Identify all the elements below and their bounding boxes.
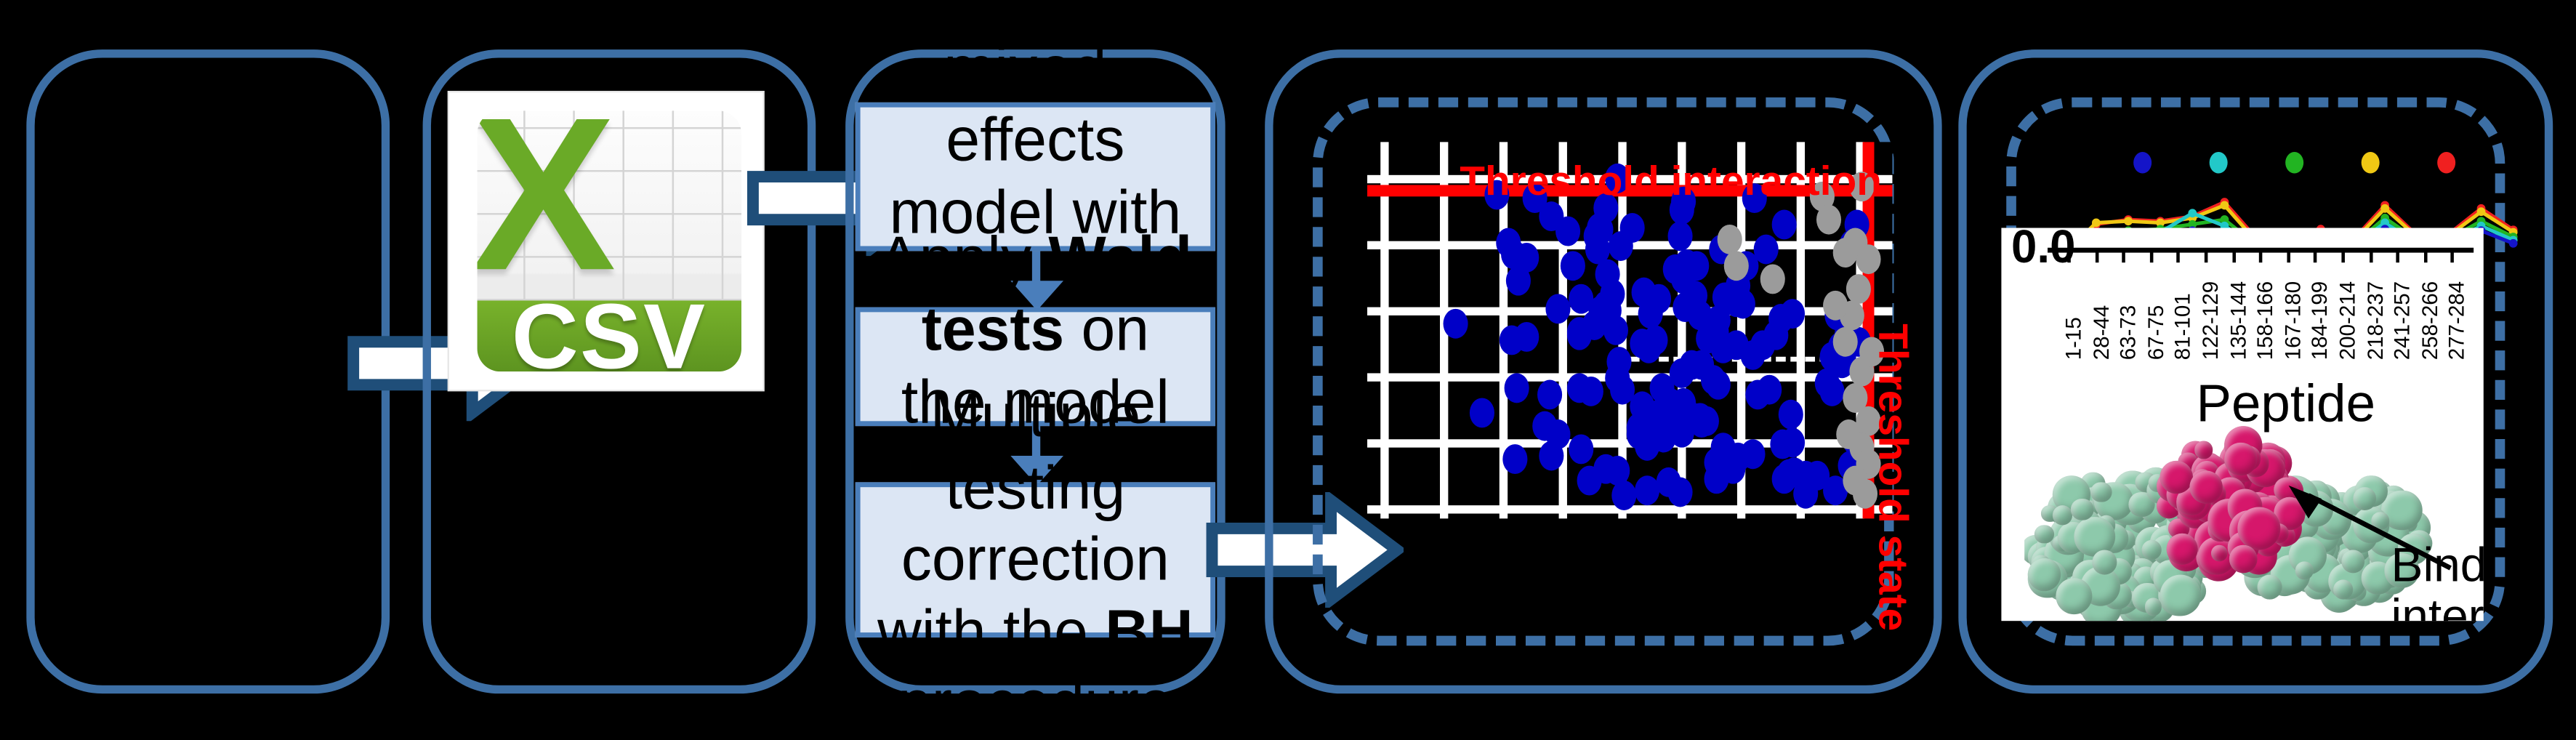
threshold-interaction-label: Threshold interaction bbox=[1460, 158, 1882, 206]
protein-surface-blob bbox=[2072, 499, 2093, 521]
peptide-tick-mark bbox=[2396, 251, 2400, 262]
peptide-series-marker bbox=[2221, 201, 2229, 210]
protein-epitope-blob bbox=[2159, 460, 2193, 494]
step-bh-box: Multiple testing correction with the BH … bbox=[856, 482, 1215, 638]
csv-band: CSV bbox=[478, 301, 741, 371]
data-point-nonsignificant bbox=[1846, 274, 1871, 304]
peptide-legend-dot bbox=[2133, 152, 2152, 174]
protein-surface-blob bbox=[2053, 505, 2072, 525]
data-point-nonsignificant bbox=[1833, 238, 1858, 268]
protein-epitope-blob bbox=[2195, 441, 2213, 459]
grid-line-vertical bbox=[1380, 142, 1388, 518]
workflow-diagram: X CSV Fit a linear mixed-effects model w… bbox=[0, 0, 2576, 687]
peptide-tick-mark bbox=[2232, 251, 2236, 262]
data-point-significant bbox=[1651, 422, 1675, 452]
peptide-legend-dot bbox=[2437, 152, 2455, 174]
protein-epitope-blob bbox=[2189, 470, 2223, 504]
peptide-legend-dot bbox=[2210, 152, 2228, 174]
peptide-tick-label: 135-144 bbox=[2225, 281, 2250, 360]
data-point-significant bbox=[1675, 249, 1699, 279]
data-point-significant bbox=[1740, 340, 1765, 370]
peptide-tick-label: 184-199 bbox=[2308, 281, 2333, 360]
protein-surface-blob bbox=[2027, 558, 2061, 591]
csv-icon-body: X CSV bbox=[478, 110, 741, 372]
data-point-significant bbox=[1778, 399, 1803, 429]
data-point-significant bbox=[1634, 476, 1659, 506]
peptide-tick-label: 122-129 bbox=[2198, 281, 2223, 360]
peptide-tick-label: 277-284 bbox=[2444, 281, 2469, 360]
peptide-tick-mark bbox=[2341, 251, 2345, 262]
binding-interface-label: Binding interface bbox=[2391, 542, 2484, 621]
data-point-significant bbox=[1726, 442, 1750, 472]
peptide-tick-mark bbox=[2287, 251, 2290, 262]
threshold-state-label: Threshold state bbox=[1867, 323, 1915, 631]
binding-label-line2: interface bbox=[2391, 593, 2484, 621]
data-point-nonsignificant bbox=[1823, 291, 1848, 321]
data-point-significant bbox=[1546, 294, 1571, 323]
peptide-tick-label: 241-257 bbox=[2390, 281, 2415, 360]
peptide-tick-label: 218-237 bbox=[2362, 281, 2387, 360]
data-point-nonsignificant bbox=[1833, 327, 1858, 357]
peptide-tick-mark bbox=[2067, 251, 2071, 262]
protein-surface-blob bbox=[2034, 524, 2053, 544]
data-point-significant bbox=[1567, 320, 1592, 350]
peptide-tick-mark bbox=[2095, 251, 2098, 262]
data-point-significant bbox=[1779, 299, 1804, 329]
peptide-tick-label: 200-214 bbox=[2335, 281, 2359, 360]
protein-epitope-blob bbox=[2237, 507, 2280, 550]
peptide-series-marker bbox=[2092, 219, 2101, 228]
protein-surface-blob bbox=[2145, 598, 2162, 616]
peptide-tick-label: 167-180 bbox=[2280, 281, 2305, 360]
csv-file-icon: X CSV bbox=[449, 92, 763, 390]
peptide-tick-mark bbox=[2205, 251, 2208, 262]
peptide-tick-mark bbox=[2259, 251, 2263, 262]
data-point-significant bbox=[1502, 444, 1527, 474]
data-point-significant bbox=[1746, 379, 1771, 409]
peptide-tick-label: 28-44 bbox=[2088, 305, 2113, 361]
peptide-tick-label: 158-166 bbox=[2253, 281, 2277, 360]
peptide-tick-label: 63-73 bbox=[2116, 305, 2141, 361]
peptide-tick-mark bbox=[2451, 251, 2455, 262]
data-point-significant bbox=[1569, 434, 1593, 464]
data-point-nonsignificant bbox=[1724, 251, 1749, 281]
csv-format-label: CSV bbox=[512, 283, 707, 371]
input-panel bbox=[26, 49, 390, 693]
peptide-tick-label: 1-15 bbox=[2061, 317, 2085, 360]
data-point-significant bbox=[1705, 370, 1730, 400]
peptide-series-marker bbox=[2509, 239, 2518, 248]
peptide-tick-mark bbox=[2424, 251, 2428, 262]
data-point-significant bbox=[1771, 209, 1796, 239]
peptide-tick-label: 67-75 bbox=[2143, 305, 2168, 361]
excel-x-letter: X bbox=[483, 121, 604, 267]
peptide-series-marker bbox=[2188, 209, 2197, 217]
data-point-significant bbox=[1631, 278, 1656, 307]
data-point-significant bbox=[1610, 374, 1635, 404]
peptide-legend-dot bbox=[2285, 152, 2303, 174]
peptide-legend-dot bbox=[2362, 152, 2380, 174]
peptide-tick-mark bbox=[2149, 251, 2153, 262]
peptide-figure-card: 0.0 1-1528-4463-7367-7581-101122-129135-… bbox=[2001, 228, 2483, 622]
peptide-tick-mark bbox=[2314, 251, 2318, 262]
peptide-series-marker bbox=[2477, 207, 2486, 216]
peptide-series-marker bbox=[2380, 204, 2389, 213]
binding-label-line1: Binding bbox=[2391, 542, 2484, 593]
data-point-significant bbox=[1579, 377, 1603, 406]
peptide-tick-mark bbox=[2369, 251, 2372, 262]
step-bh-text: Multiple testing correction with the BH … bbox=[877, 379, 1194, 740]
data-point-significant bbox=[1444, 309, 1468, 339]
data-point-nonsignificant bbox=[1760, 264, 1785, 294]
peptide-tick-mark bbox=[2177, 251, 2181, 262]
peptide-tick-mark bbox=[2122, 251, 2126, 262]
data-point-nonsignificant bbox=[1718, 225, 1742, 254]
data-point-nonsignificant bbox=[1816, 205, 1841, 235]
peptide-tick-label: 81-101 bbox=[2170, 293, 2195, 360]
peptide-tick-label: 258-266 bbox=[2417, 281, 2442, 360]
data-point-significant bbox=[1499, 325, 1524, 355]
data-point-significant bbox=[1619, 213, 1644, 243]
protein-surface-blob bbox=[2160, 574, 2201, 616]
protein-epitope-blob bbox=[2229, 545, 2256, 573]
data-point-nonsignificant bbox=[1856, 244, 1880, 274]
data-point-significant bbox=[1469, 398, 1494, 428]
peptide-series-marker bbox=[2124, 217, 2133, 225]
data-point-significant bbox=[1668, 478, 1693, 507]
